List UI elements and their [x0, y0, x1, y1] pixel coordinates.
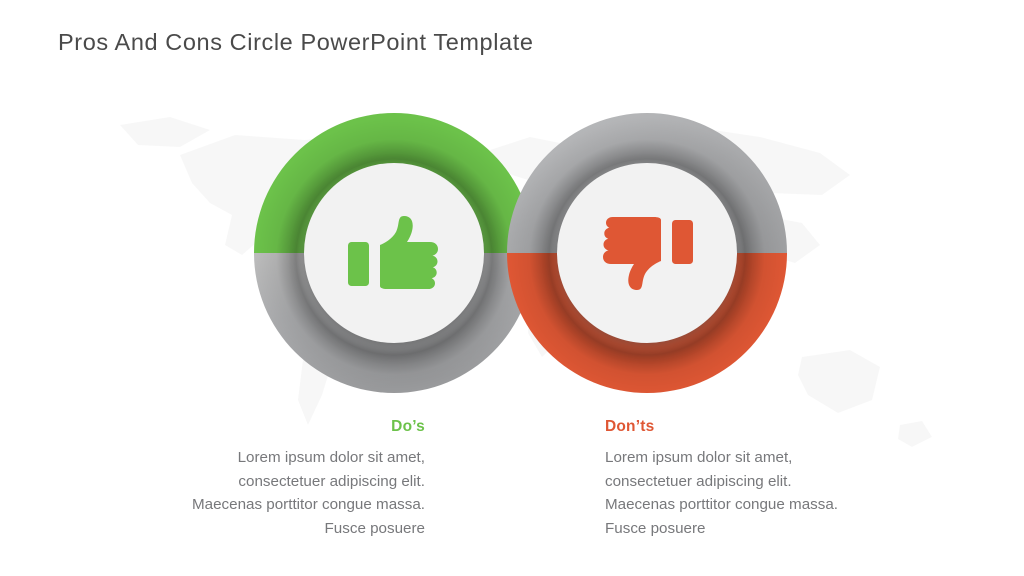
thumbs-down-icon [599, 214, 695, 292]
donut-diagram [0, 0, 1024, 450]
donts-inner-disc [557, 163, 737, 343]
donts-heading: Don’ts [605, 418, 905, 436]
dos-text-column: Do’s Lorem ipsum dolor sit amet, consect… [125, 418, 425, 540]
donts-text-column: Don’ts Lorem ipsum dolor sit amet, conse… [605, 418, 905, 540]
donts-donut[interactable] [505, 111, 789, 395]
dos-inner-disc [304, 163, 484, 343]
dos-donut[interactable] [252, 111, 536, 395]
dos-body-text: Lorem ipsum dolor sit amet, consectetuer… [125, 446, 425, 540]
dos-heading: Do’s [125, 418, 425, 436]
slide-canvas: Pros And Cons Circle PowerPoint Template [0, 0, 1024, 576]
thumbs-up-icon [346, 214, 442, 292]
donts-body-text: Lorem ipsum dolor sit amet, consectetuer… [605, 446, 905, 540]
